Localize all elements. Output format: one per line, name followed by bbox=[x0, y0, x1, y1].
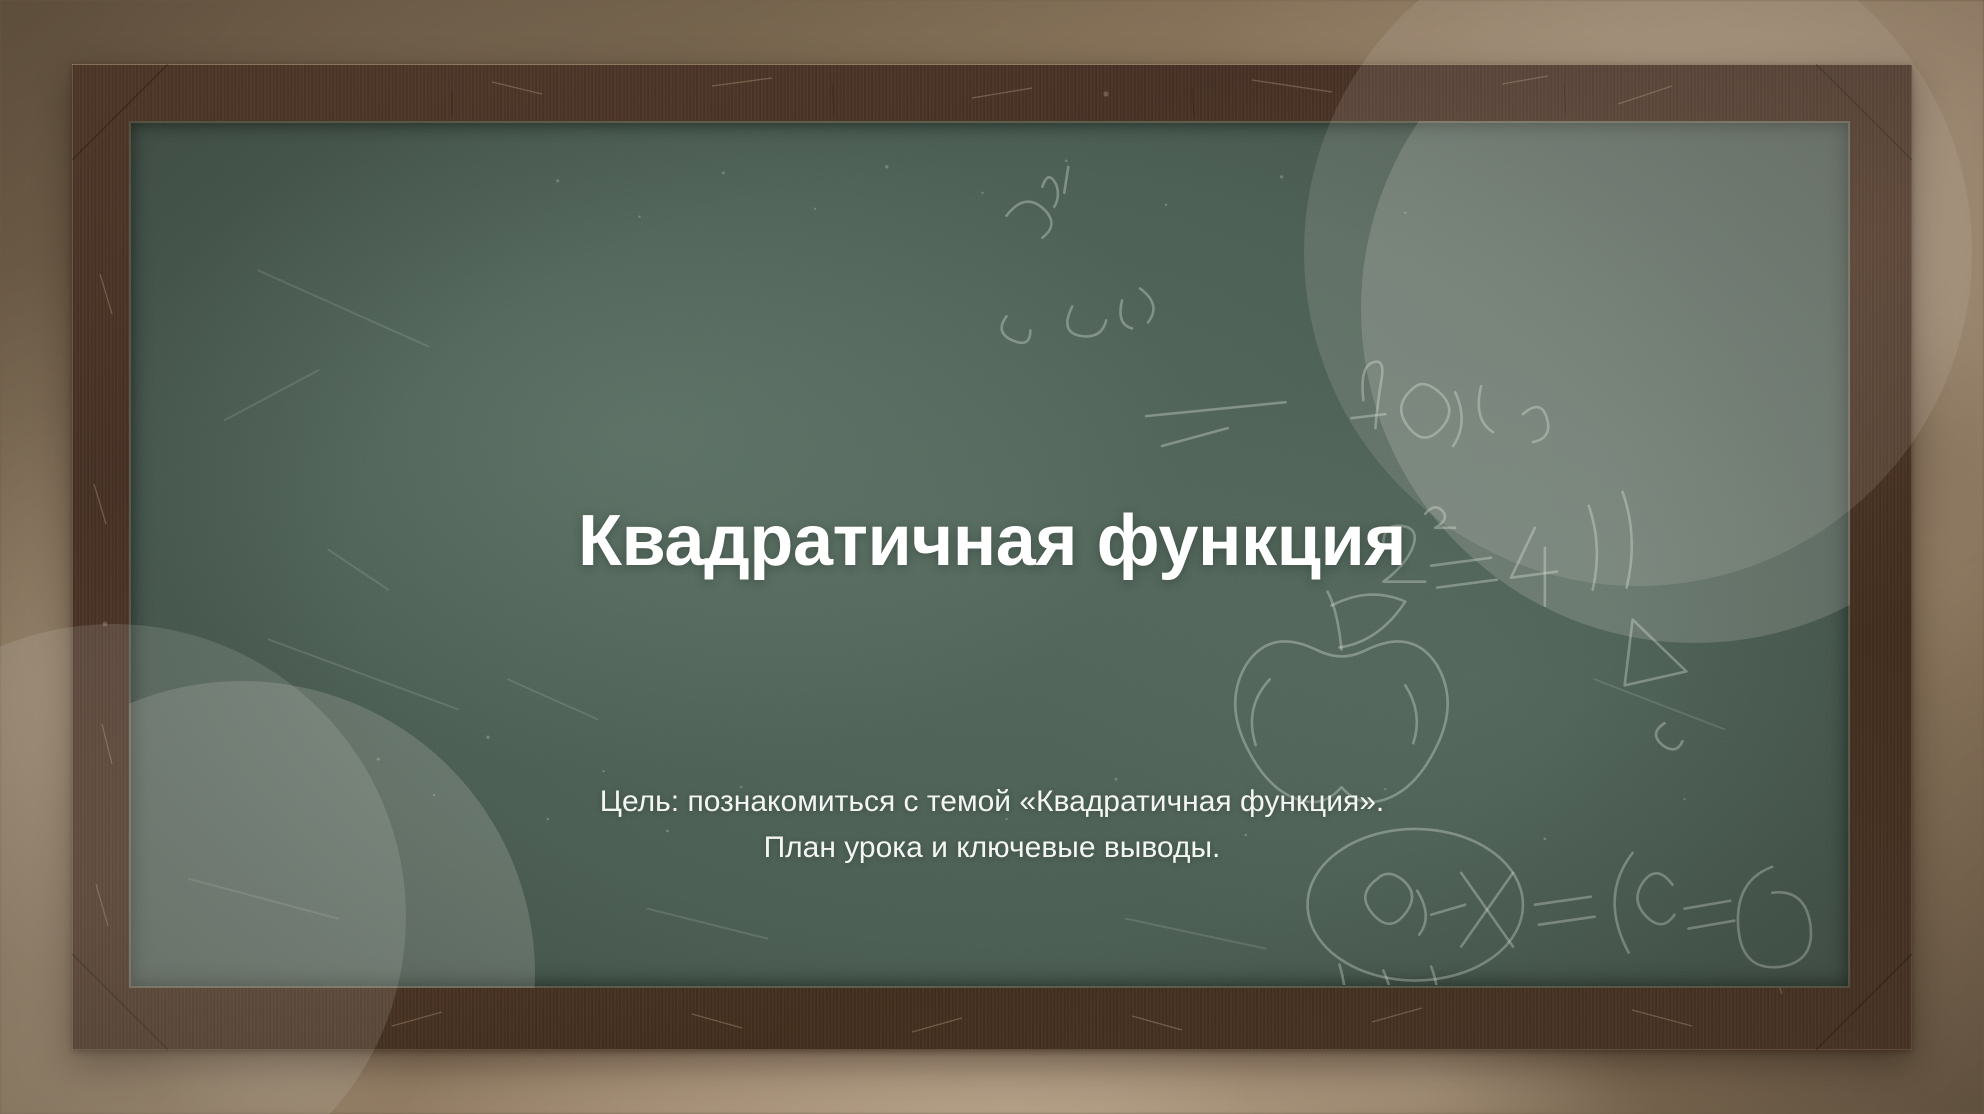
chalkboard-surface bbox=[129, 121, 1850, 988]
chalk-doodles bbox=[129, 121, 1850, 985]
chalkboard-wood-frame bbox=[72, 64, 1912, 1050]
title-slide: Квадратичная функция Цель: познакомиться… bbox=[0, 0, 1984, 1114]
chalkboard-grain-texture bbox=[129, 121, 1850, 988]
decorative-circle-bottom-left bbox=[129, 681, 535, 988]
decorative-circle-top-right bbox=[1361, 121, 1850, 643]
chalk-dust-specks bbox=[129, 121, 1850, 985]
